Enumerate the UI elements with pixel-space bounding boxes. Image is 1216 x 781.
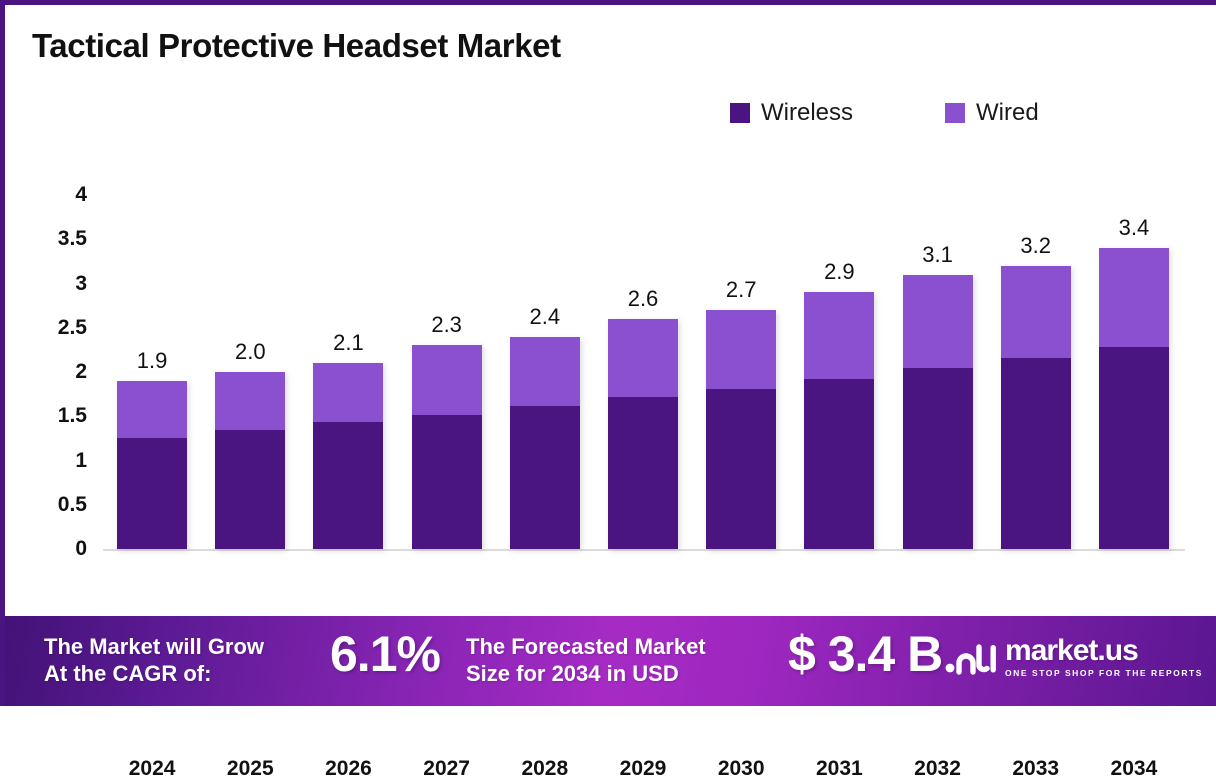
legend-swatch-wireless	[730, 103, 750, 123]
bar-group[interactable]	[412, 345, 482, 549]
x-axis-label: 2027	[423, 757, 470, 781]
legend-item-wired[interactable]: Wired	[945, 101, 1039, 125]
y-axis-tick: 2	[75, 360, 87, 384]
y-axis: 00.511.522.533.54	[5, 195, 97, 549]
cagr-value: 6.1%	[330, 625, 440, 683]
bar-segment-wired[interactable]	[608, 319, 678, 397]
bar-group[interactable]	[313, 363, 383, 549]
bar-segment-wireless[interactable]	[1099, 347, 1169, 549]
bar-segment-wired[interactable]	[1099, 248, 1169, 347]
bar-group[interactable]	[215, 372, 285, 549]
bar-segment-wireless[interactable]	[903, 368, 973, 549]
y-axis-tick: 3.5	[58, 227, 87, 251]
chart-legend: Wireless Wired	[730, 101, 1039, 125]
bar-segment-wired[interactable]	[1001, 266, 1071, 358]
bar-segment-wireless[interactable]	[510, 406, 580, 549]
x-axis-label: 2024	[129, 757, 176, 781]
x-axis-label: 2031	[816, 757, 863, 781]
bar-value-label: 2.3	[431, 312, 462, 338]
market-us-logo[interactable]: market.us ONE STOP SHOP FOR THE REPORTS	[945, 636, 1203, 679]
x-axis-label: 2030	[718, 757, 765, 781]
bar-group[interactable]	[608, 319, 678, 549]
cagr-caption: The Market will Grow At the CAGR of:	[44, 633, 264, 687]
bar-value-label: 3.1	[922, 242, 953, 268]
bar-value-label: 2.1	[333, 330, 364, 356]
bar-segment-wired[interactable]	[412, 345, 482, 415]
x-axis-label: 2026	[325, 757, 372, 781]
bar-value-label: 2.0	[235, 339, 266, 365]
x-axis-label: 2028	[521, 757, 568, 781]
bar-segment-wired[interactable]	[706, 310, 776, 389]
bottom-banner: The Market will Grow At the CAGR of: 6.1…	[5, 616, 1216, 706]
page-title: Tactical Protective Headset Market	[32, 27, 561, 65]
bar-segment-wired[interactable]	[903, 275, 973, 368]
legend-item-wireless[interactable]: Wireless	[730, 101, 853, 125]
bar-group[interactable]	[1099, 248, 1169, 549]
bar-value-label: 2.7	[726, 277, 757, 303]
bar-segment-wired[interactable]	[117, 381, 187, 438]
x-axis-label: 2033	[1012, 757, 1059, 781]
bar-group[interactable]	[1001, 266, 1071, 549]
x-axis-label: 2029	[620, 757, 667, 781]
y-axis-tick: 0	[75, 537, 87, 561]
logo-name: market.us	[1005, 636, 1138, 666]
bar-group[interactable]	[804, 292, 874, 549]
bar-segment-wired[interactable]	[510, 337, 580, 406]
bar-value-label: 3.4	[1119, 215, 1150, 241]
bar-value-label: 2.4	[530, 304, 561, 330]
y-axis-tick: 1	[75, 449, 87, 473]
bar-segment-wired[interactable]	[313, 363, 383, 422]
bar-value-label: 2.9	[824, 259, 855, 285]
bar-value-label: 2.6	[628, 286, 659, 312]
logo-tagline: ONE STOP SHOP FOR THE REPORTS	[1005, 667, 1203, 679]
bar-segment-wireless[interactable]	[117, 438, 187, 550]
bar-value-label: 3.2	[1020, 233, 1051, 259]
bar-segment-wired[interactable]	[804, 292, 874, 379]
bar-segment-wireless[interactable]	[215, 430, 285, 549]
bar-group[interactable]	[706, 310, 776, 549]
bar-segment-wireless[interactable]	[313, 422, 383, 549]
bar-value-label: 1.9	[137, 348, 168, 374]
legend-label-wireless: Wireless	[761, 101, 853, 125]
bar-segment-wireless[interactable]	[706, 389, 776, 549]
forecast-value: $ 3.4 B	[788, 625, 942, 683]
logo-mark-icon	[945, 641, 997, 675]
chart-page: Tactical Protective Headset Market Wirel…	[0, 0, 1216, 706]
y-axis-tick: 1.5	[58, 404, 87, 428]
y-axis-tick: 0.5	[58, 493, 87, 517]
plot-area: 1.920242.020252.120262.320272.420282.620…	[103, 195, 1183, 549]
x-axis-label: 2034	[1111, 757, 1158, 781]
bar-segment-wireless[interactable]	[412, 415, 482, 549]
bar-group[interactable]	[510, 337, 580, 549]
bar-segment-wireless[interactable]	[804, 379, 874, 549]
bar-segment-wired[interactable]	[215, 372, 285, 430]
legend-swatch-wired	[945, 103, 965, 123]
x-axis-baseline	[103, 549, 1185, 551]
bar-segment-wireless[interactable]	[1001, 358, 1071, 549]
forecast-caption: The Forecasted Market Size for 2034 in U…	[466, 633, 706, 687]
bar-group[interactable]	[117, 381, 187, 549]
y-axis-tick: 3	[75, 272, 87, 296]
legend-label-wired: Wired	[976, 101, 1039, 125]
y-axis-tick: 4	[75, 183, 87, 207]
bar-segment-wireless[interactable]	[608, 397, 678, 549]
x-axis-label: 2025	[227, 757, 274, 781]
x-axis-label: 2032	[914, 757, 961, 781]
bar-group[interactable]	[903, 275, 973, 549]
y-axis-tick: 2.5	[58, 316, 87, 340]
